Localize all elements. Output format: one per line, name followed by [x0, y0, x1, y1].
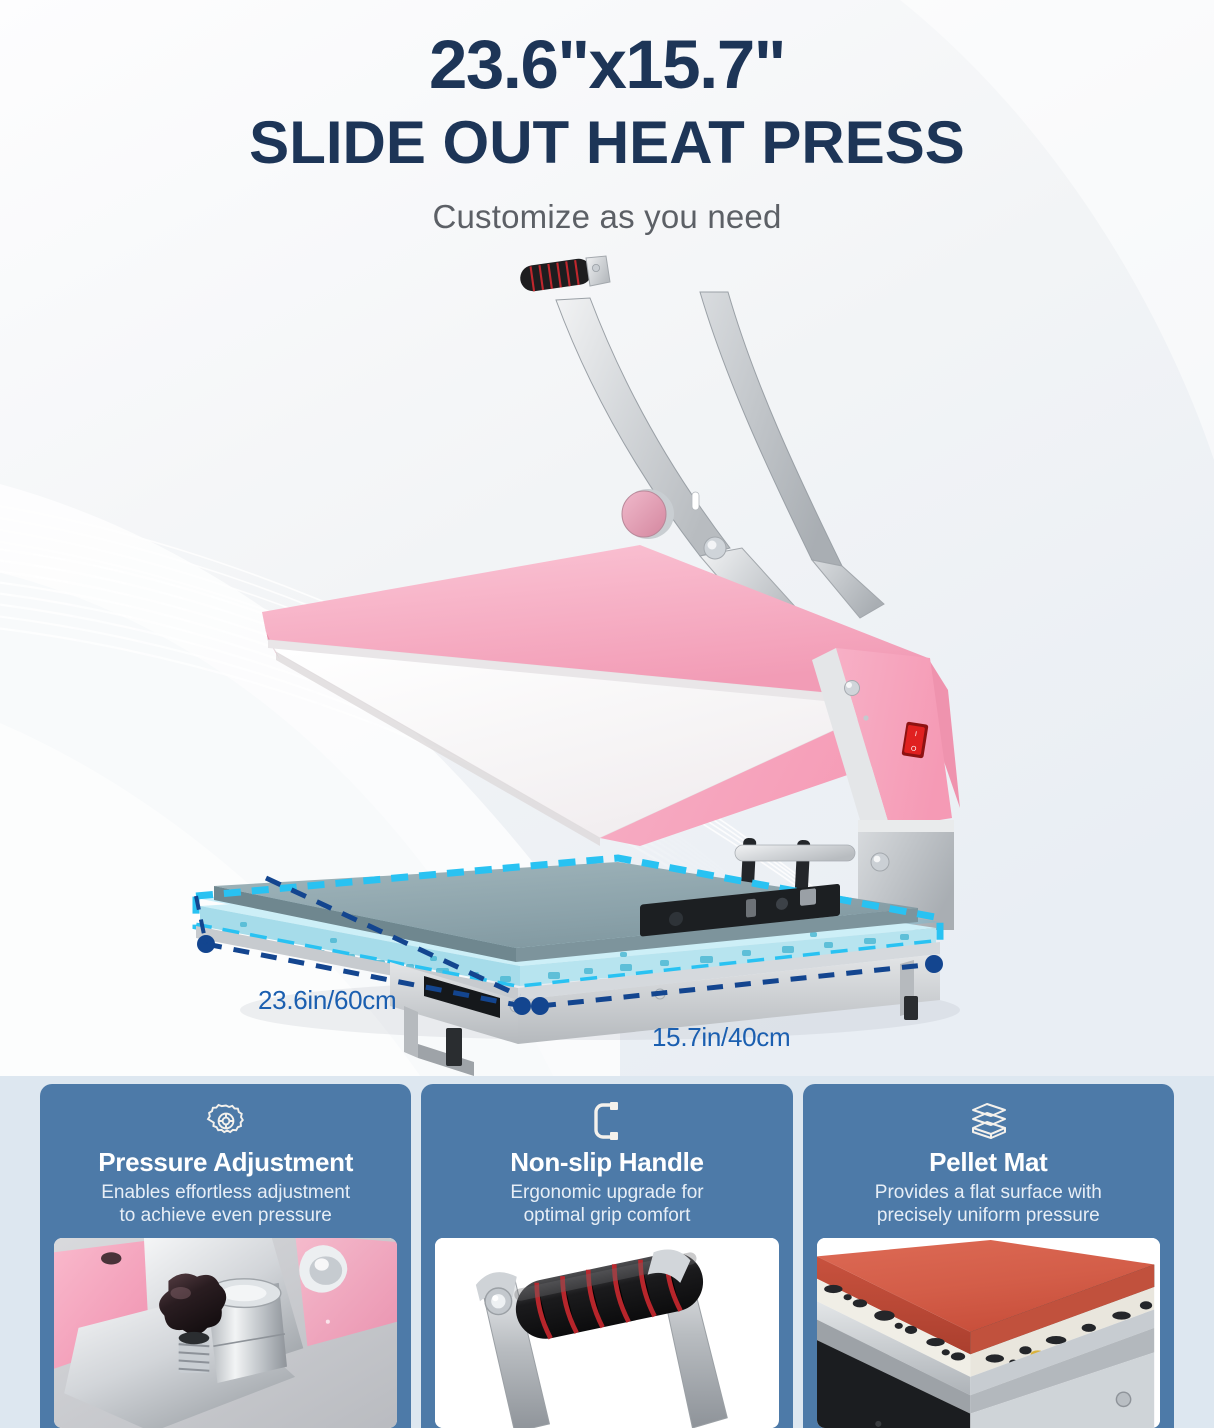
gear-icon: [206, 1100, 246, 1142]
handle-icon: [590, 1100, 624, 1142]
handle-lower-link-rear: [812, 560, 884, 618]
width-dimension-label: 23.6in/60cm: [258, 985, 396, 1016]
feature-cards-band: Pressure Adjustment Enables effortless a…: [0, 1076, 1214, 1428]
base-port-4: [800, 888, 816, 906]
pellet-mat-photo: [817, 1238, 1160, 1428]
feature-card-description: Ergonomic upgrade for optimal grip comfo…: [510, 1181, 703, 1227]
feature-card-title: Pressure Adjustment: [98, 1148, 353, 1177]
leg-left: [404, 1006, 418, 1058]
handle-bolt: [592, 264, 599, 271]
depth-dimension-label: 15.7in/40cm: [652, 1022, 790, 1053]
handle-grip-photo: [435, 1238, 778, 1428]
column-bolt: [871, 853, 889, 871]
handle-grip: [519, 257, 594, 293]
layers-icon: [967, 1100, 1009, 1142]
feature-card-non-slip-handle[interactable]: Non-slip Handle Ergonomic upgrade for op…: [421, 1084, 792, 1428]
header: 23.6"x15.7" SLIDE OUT HEAT PRESS Customi…: [0, 0, 1214, 236]
page-title-product: SLIDE OUT HEAT PRESS: [0, 109, 1214, 176]
feature-card-description: Enables effortless adjustment to achieve…: [101, 1181, 350, 1227]
feature-card-title: Pellet Mat: [929, 1148, 1047, 1177]
foot-pad-left: [446, 1028, 462, 1066]
roller-shaft: [735, 845, 855, 861]
feature-card-description: Provides a flat surface with precisely u…: [875, 1181, 1102, 1227]
feature-card-title: Non-slip Handle: [510, 1148, 703, 1177]
foot-pad-right: [904, 996, 918, 1020]
page-subtitle: Customize as you need: [0, 198, 1214, 236]
product-infographic-page: 23.6"x15.7" SLIDE OUT HEAT PRESS Customi…: [0, 0, 1214, 1428]
pressure-knob-photo: [54, 1238, 397, 1428]
pressure-adjust-knob[interactable]: [622, 489, 674, 539]
feature-card-pressure-adjustment[interactable]: Pressure Adjustment Enables effortless a…: [40, 1084, 411, 1428]
handle-arm-rear: [700, 292, 842, 566]
page-title-dimensions: 23.6"x15.7": [0, 30, 1214, 99]
feature-card-pellet-mat[interactable]: Pellet Mat Provides a flat surface with …: [803, 1084, 1174, 1428]
base-port-2: [746, 899, 756, 918]
arm-slot: [692, 492, 699, 510]
